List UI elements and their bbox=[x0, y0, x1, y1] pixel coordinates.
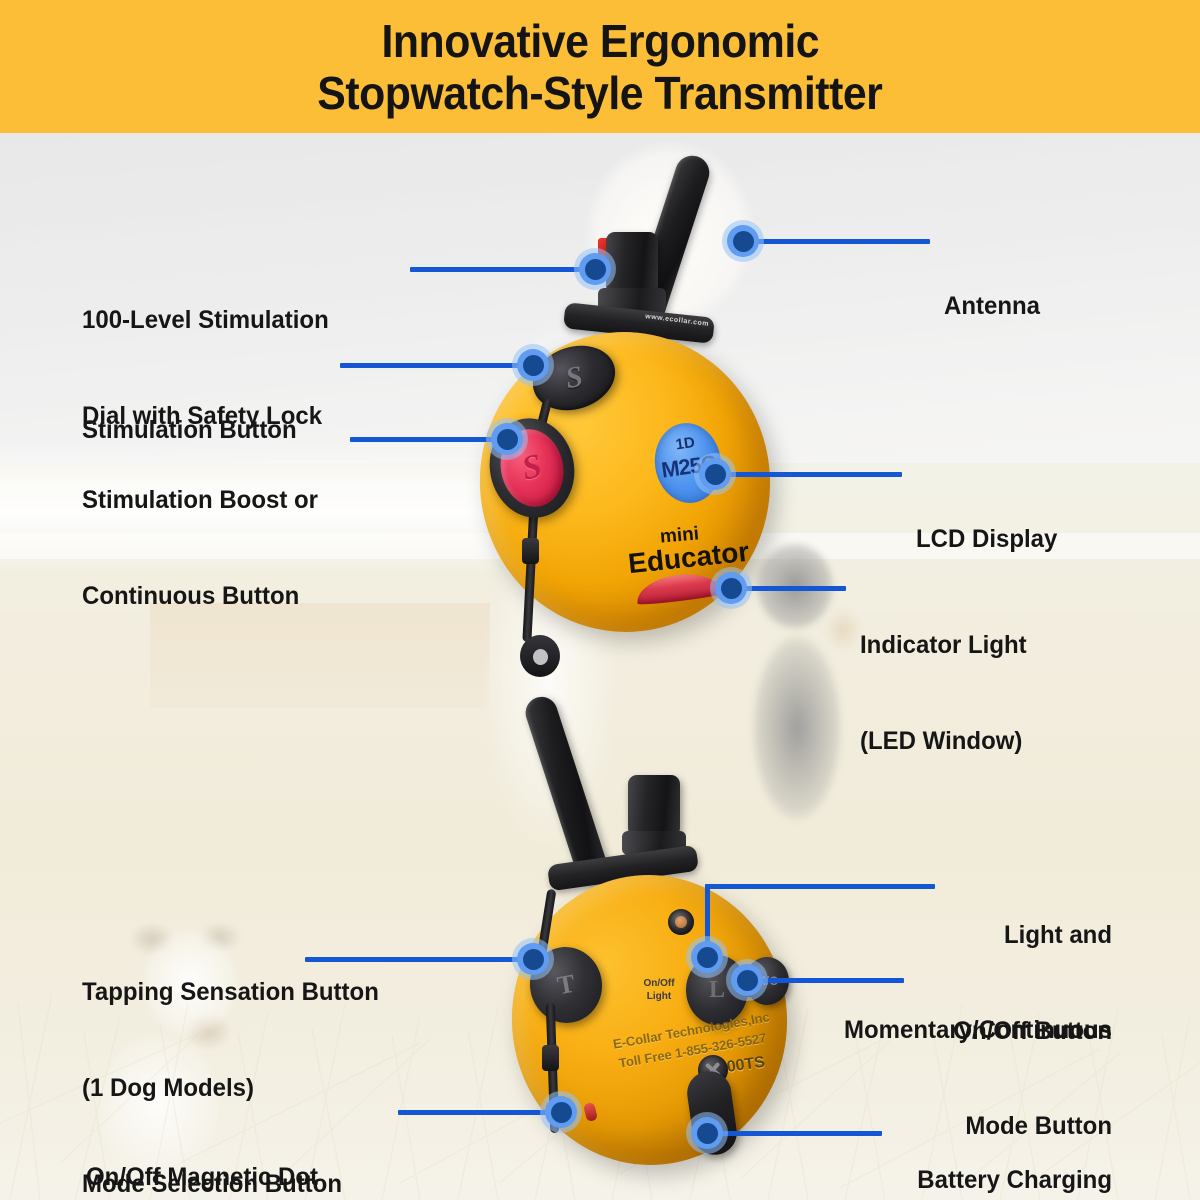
leader-line-momentary-continuous bbox=[752, 978, 904, 983]
leader-line-light-onoff bbox=[705, 884, 935, 889]
leader-line-stimulation-button bbox=[340, 363, 540, 368]
antenna-back bbox=[521, 693, 610, 884]
onoff-button-glyph: L bbox=[709, 977, 725, 1004]
callout-dot-stimulation-dial[interactable] bbox=[574, 248, 616, 290]
callout-dot-tapping-mode-button[interactable] bbox=[512, 938, 554, 980]
callout-dot-stimulation-boost[interactable] bbox=[486, 418, 528, 460]
tap-button-glyph: T bbox=[555, 969, 577, 1002]
label-antenna-line-1: Antenna bbox=[944, 290, 1040, 322]
infographic-stage: Innovative Ergonomic Stopwatch-Style Tra… bbox=[0, 0, 1200, 1200]
leader-line-antenna bbox=[752, 239, 930, 244]
lanyard-loop bbox=[520, 635, 560, 677]
label-magnetic-dot-line-1: On/Off Magnetic Dot bbox=[86, 1161, 318, 1193]
header-banner: Innovative Ergonomic Stopwatch-Style Tra… bbox=[0, 0, 1200, 133]
label-lcd-display-line-1: LCD Display bbox=[916, 523, 1057, 555]
label-momentary-line-1: Momentary/Continuous bbox=[818, 1014, 1112, 1046]
stimulation-dial-knob-back[interactable] bbox=[628, 775, 680, 837]
leader-line-tapping-mode-button bbox=[305, 957, 527, 962]
onoff-light-label: On/Off Light bbox=[632, 977, 686, 1003]
label-magnetic-dot: On/Off Magnetic Dot bbox=[86, 1097, 318, 1200]
label-tapping-line-1: Tapping Sensation Button bbox=[82, 976, 379, 1008]
leader-line-indicator-light bbox=[744, 586, 846, 591]
callout-dot-antenna[interactable] bbox=[722, 220, 764, 262]
header-title-line-2: Stopwatch-Style Transmitter bbox=[317, 67, 882, 119]
label-stimulation-boost-line-2: Continuous Button bbox=[82, 580, 318, 612]
label-indicator-light: Indicator Light (LED Window) bbox=[860, 565, 1027, 821]
label-battery-line-1: Battery Charging bbox=[807, 1164, 1112, 1196]
label-indicator-light-line-1: Indicator Light bbox=[860, 629, 1027, 661]
stimulation-button-glyph: S bbox=[563, 360, 585, 396]
leader-line-stimulation-dial bbox=[410, 267, 584, 272]
callout-dot-light-onoff-button[interactable] bbox=[686, 936, 728, 978]
label-stimulation-boost: Stimulation Boost or Continuous Button bbox=[82, 420, 318, 676]
lanyard-clip-back bbox=[542, 1045, 559, 1071]
callout-dot-stimulation-button[interactable] bbox=[512, 344, 554, 386]
label-battery-charging: Battery Charging Receptacle and Cover bbox=[807, 1100, 1112, 1200]
callout-dot-magnetic-dot[interactable] bbox=[540, 1091, 582, 1133]
callout-dot-momentary-continuous[interactable] bbox=[726, 959, 768, 1001]
label-light-onoff-line-1: Light and bbox=[812, 919, 1112, 951]
charging-contact-port[interactable] bbox=[668, 909, 694, 935]
label-antenna: Antenna bbox=[944, 226, 1040, 386]
label-stimulation-boost-line-1: Stimulation Boost or bbox=[82, 484, 318, 516]
onoff-label-line-1: On/Off bbox=[632, 977, 686, 990]
callout-dot-lcd-display[interactable] bbox=[694, 453, 736, 495]
label-stimulation-dial-line-1: 100-Level Stimulation bbox=[82, 304, 329, 336]
leader-line-battery-charging bbox=[722, 1131, 882, 1136]
onoff-label-line-2: Light bbox=[632, 990, 686, 1003]
callout-dot-indicator-light[interactable] bbox=[710, 567, 752, 609]
boost-button-glyph: S bbox=[519, 447, 545, 488]
leader-line-lcd-display bbox=[726, 472, 902, 477]
lanyard-clip bbox=[522, 538, 539, 564]
header-title-line-1: Innovative Ergonomic bbox=[381, 15, 819, 67]
label-indicator-light-line-2: (LED Window) bbox=[860, 725, 1027, 757]
callout-dot-battery-charging[interactable] bbox=[686, 1112, 728, 1154]
